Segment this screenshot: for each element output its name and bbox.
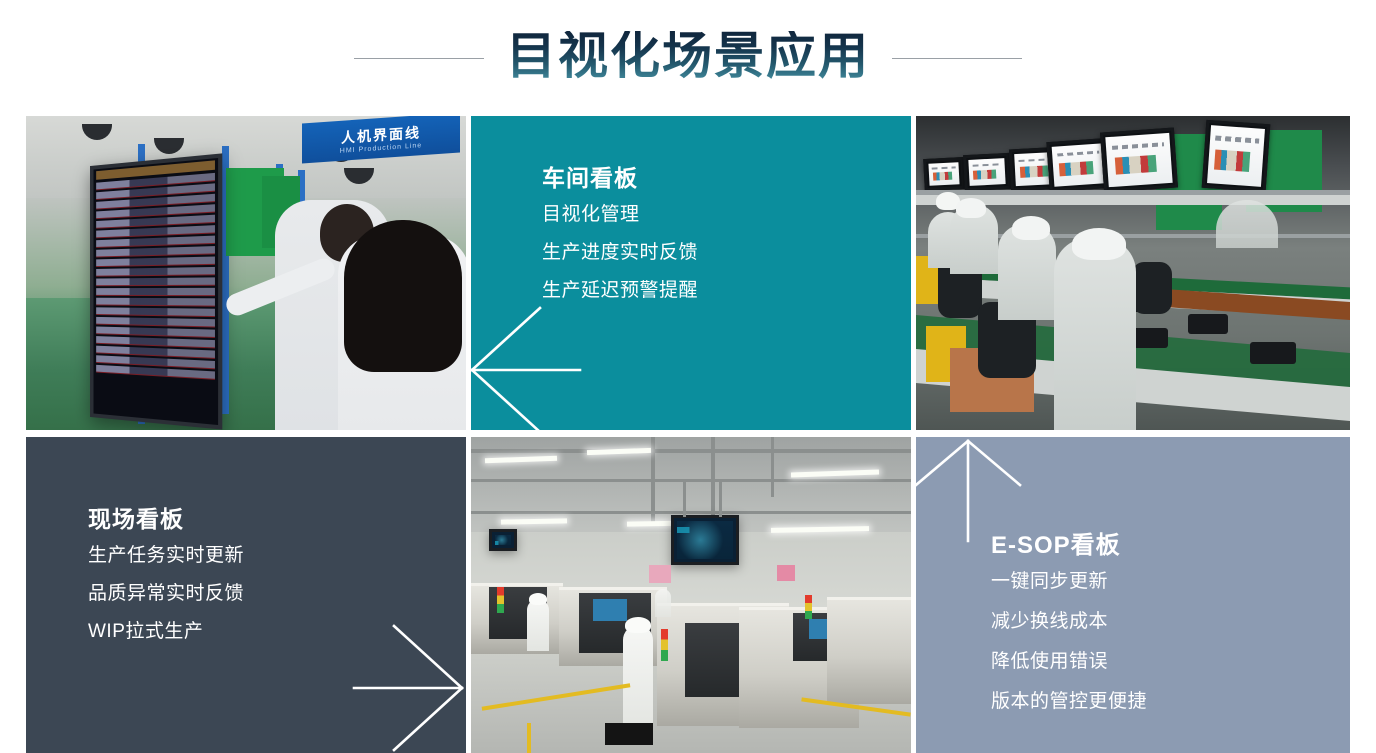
esop-monitor [963, 153, 1011, 191]
panel-line: 品质异常实时反馈 [88, 584, 466, 603]
floor-mat [605, 723, 653, 745]
photo-card-smt-factory-floor [471, 437, 911, 753]
panel-line: 版本的管控更便捷 [991, 692, 1350, 711]
panel-line: 生产进度实时反馈 [542, 243, 911, 262]
panel-site-kanban[interactable]: 现场看板 生产任务实时更新 品质异常实时反馈 WIP拉式生产 [26, 437, 466, 753]
ceiling-pipe [651, 437, 655, 523]
arrow-right-icon [346, 623, 466, 753]
panel-line: 减少换线成本 [991, 612, 1350, 631]
esop-monitor [1202, 120, 1271, 192]
andon-light-tower [661, 629, 668, 661]
led-dashboard-board [90, 153, 222, 429]
worker-head [344, 220, 462, 372]
ceiling-pipe [771, 437, 774, 497]
worker-cap [1012, 216, 1050, 240]
panel-line: 生产任务实时更新 [88, 546, 466, 565]
scenario-grid: 人机界面线 HMI Production Line 车间看板 目视化管理 生产进… [26, 116, 1350, 753]
small-screen [489, 529, 517, 551]
operator-cap [529, 593, 547, 605]
operator-body [623, 625, 653, 731]
product-tray [1188, 314, 1228, 334]
zone-sign [649, 565, 671, 583]
panel-line: 生产延迟预警提醒 [542, 281, 911, 300]
operator-cap [625, 617, 651, 633]
zone-sign [777, 565, 795, 581]
worker-cap [1072, 228, 1126, 260]
board-data-row [96, 277, 215, 286]
floor-marking [482, 683, 631, 710]
board-data-row [96, 288, 215, 296]
photo-card-workshop-led-board: 人机界面线 HMI Production Line [26, 116, 466, 430]
panel-title-site: 现场看板 [88, 506, 466, 534]
worker-body [1054, 238, 1136, 430]
andon-light-tower [805, 595, 812, 619]
board-data-row [96, 317, 215, 328]
chair [1132, 262, 1172, 314]
esop-monitor [1100, 127, 1178, 192]
ceiling-pipe [471, 479, 911, 482]
panel-workshop-kanban[interactable]: 车间看板 目视化管理 生产进度实时反馈 生产延迟预警提醒 [471, 116, 911, 430]
photo-esop-assembly-line [916, 116, 1350, 430]
panel-esop-kanban[interactable]: E-SOP看板 一键同步更新 减少换线成本 降低使用错误 版本的管控更便捷 [916, 437, 1350, 753]
title-rule-left [354, 58, 484, 59]
operator-body [655, 589, 671, 617]
machine-screen [593, 599, 627, 621]
board-data-row [96, 307, 215, 317]
panel-title-esop: E-SOP看板 [991, 532, 1350, 561]
product-tray [1250, 342, 1296, 364]
floor-marking [527, 723, 531, 753]
monitor-mount [683, 481, 686, 517]
ceiling-light [771, 526, 869, 533]
panel-line: 降低使用错误 [991, 652, 1350, 671]
title-rule-right [892, 58, 1022, 59]
board-data-row [96, 298, 215, 307]
ceiling-pipe [471, 511, 911, 514]
arrow-left-icon [471, 304, 588, 430]
panel-line: WIP拉式生产 [88, 622, 466, 641]
andon-light-tower [497, 587, 504, 613]
esop-monitor [923, 157, 965, 191]
panel-line: 一键同步更新 [991, 572, 1350, 591]
page-header: 目视化场景应用 [0, 0, 1376, 116]
operator-body [527, 599, 549, 651]
ceiling-pipe [471, 449, 911, 453]
board-data-row [96, 246, 215, 257]
smt-machine [827, 597, 911, 704]
photo-card-esop-assembly-line [916, 116, 1350, 430]
page-title: 目视化场景应用 [506, 31, 870, 85]
photo-workshop-led-board: 人机界面线 HMI Production Line [26, 116, 466, 430]
photo-smt-factory-floor [471, 437, 911, 753]
monitor-mount [719, 481, 722, 517]
panel-title-workshop: 车间看板 [542, 165, 911, 193]
board-data-row [96, 267, 215, 277]
panel-line: 目视化管理 [542, 205, 911, 224]
worker-cap [956, 198, 986, 218]
factory-dashboard-screen [671, 515, 739, 565]
board-data-row [96, 256, 215, 267]
